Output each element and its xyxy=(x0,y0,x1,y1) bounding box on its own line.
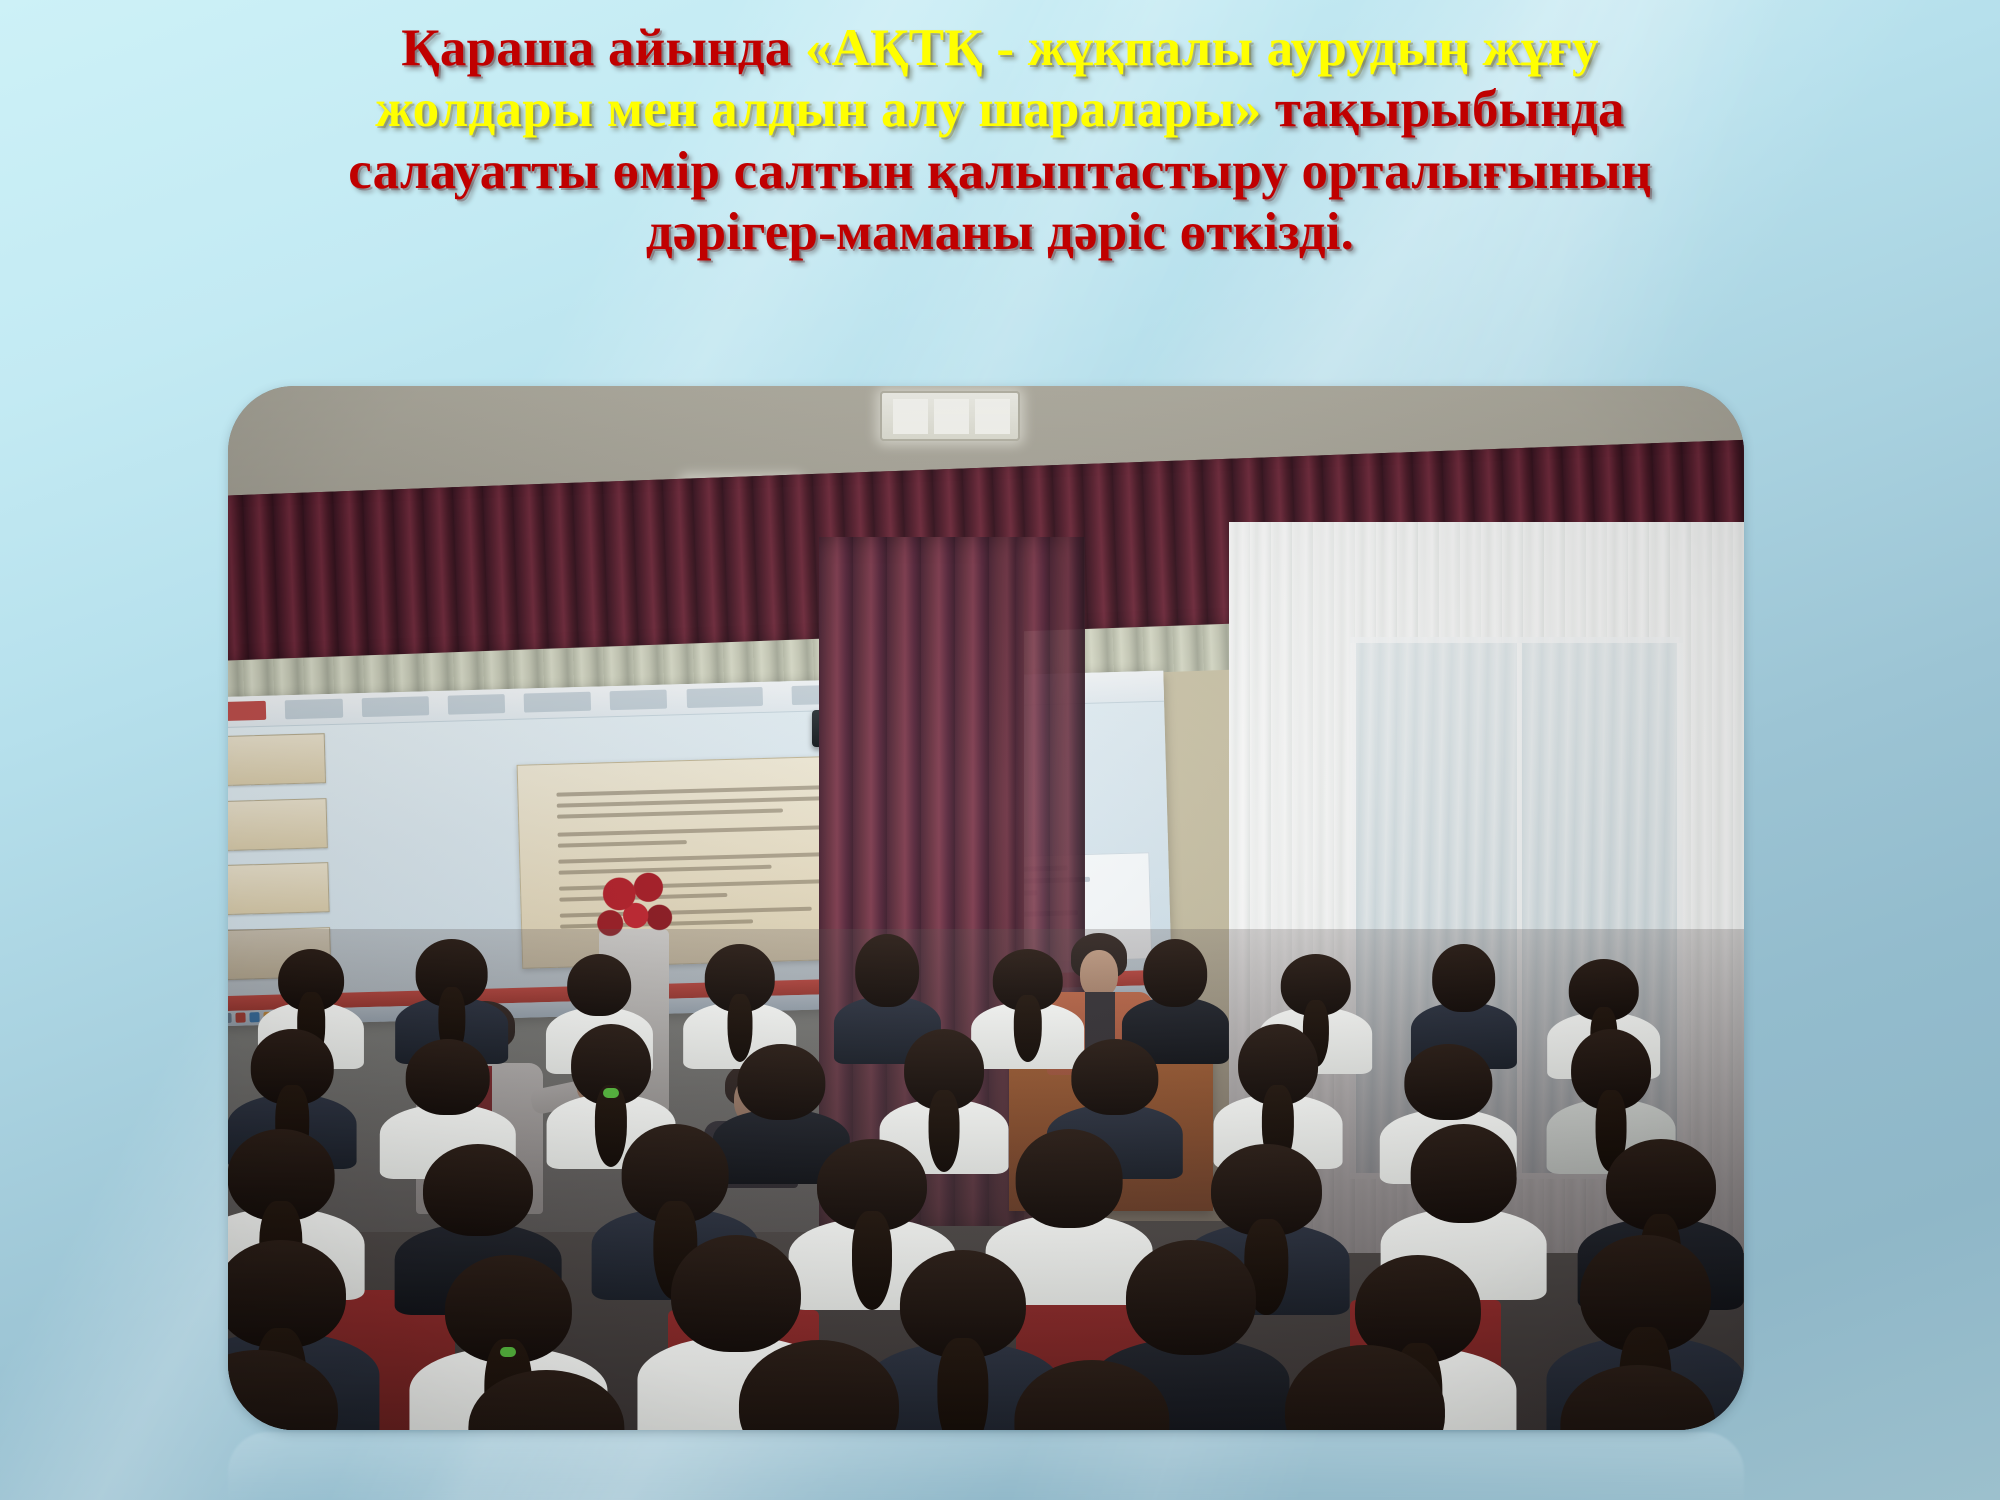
audience-member xyxy=(228,1350,380,1430)
title-line-4: дәрігер-маманы дәріс өткізді. xyxy=(60,202,1940,263)
audience xyxy=(228,929,1744,1430)
ceiling-light-icon xyxy=(880,391,1020,441)
photo-reflection xyxy=(228,1432,1744,1500)
presentation-slide: Қараша айында «АҚТҚ - жұқпалы аурудың жұ… xyxy=(0,0,2000,1500)
title-line-2: жолдары мен алдын алу шаралары» тақырыбы… xyxy=(60,79,1940,140)
audience-member xyxy=(698,1340,941,1430)
title-line-3: салауатты өмір салтын қалыптастыру ортал… xyxy=(60,141,1940,202)
lecture-photo xyxy=(228,386,1744,1430)
title-line-1-yellow: «АҚТҚ - жұқпалы аурудың жұғу xyxy=(805,19,1599,77)
audience-member xyxy=(1244,1345,1487,1430)
title-line-4-red: дәрігер-маманы дәріс өткізді. xyxy=(646,203,1354,261)
title-line-1: Қараша айында «АҚТҚ - жұқпалы аурудың жұ… xyxy=(60,18,1940,79)
title-line-2-red: тақырыбында xyxy=(1261,80,1624,138)
audience-member xyxy=(425,1370,668,1430)
title-line-1-red: Қараша айында xyxy=(401,19,805,77)
title-line-2-yellow: жолдары мен алдын алу шаралары» xyxy=(375,80,1261,138)
title-line-3-red: салауатты өмір салтын қалыптастыру ортал… xyxy=(348,142,1651,200)
photo-scene xyxy=(228,386,1744,1430)
audience-member xyxy=(1517,1365,1744,1430)
audience-member xyxy=(971,1360,1214,1430)
slide-title: Қараша айында «АҚТҚ - жұқпалы аурудың жұ… xyxy=(60,18,1940,264)
